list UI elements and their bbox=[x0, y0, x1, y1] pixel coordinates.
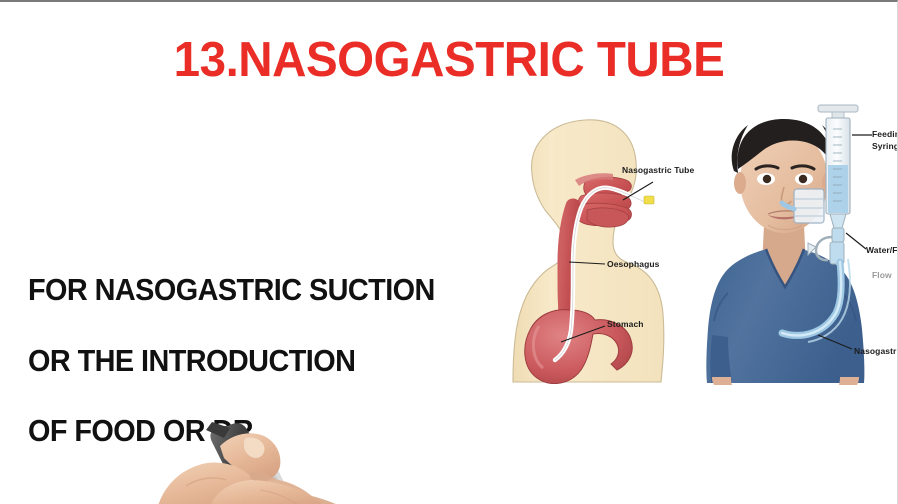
label-flow: Flow bbox=[872, 270, 892, 280]
label-water-food: Water/Food bbox=[866, 245, 898, 255]
anatomy-diagram: Nasogastric Tube Oesophagus Stomach bbox=[495, 114, 700, 384]
patient-photo-figure: Feeding Syringe Water/Food Flow Nasogast… bbox=[676, 97, 898, 387]
label-nasogastric-tube-photo: Nasogastric Tube bbox=[854, 346, 898, 356]
hand-shape bbox=[158, 433, 332, 504]
body-text-line-2: OR THE INTRODUCTION bbox=[28, 343, 355, 379]
drawing-hand bbox=[150, 420, 380, 504]
upper-airway bbox=[574, 173, 632, 227]
label-oesophagus: Oesophagus bbox=[607, 259, 659, 269]
tube-tip-connector bbox=[644, 196, 654, 204]
tape-patch bbox=[794, 189, 824, 223]
body-text-line-1: FOR NASOGASTRIC SUCTION bbox=[28, 272, 435, 308]
hand-marker-svg bbox=[150, 420, 380, 504]
label-stomach: Stomach bbox=[607, 319, 644, 329]
label-feeding-syringe-line2: Syringe bbox=[872, 141, 898, 151]
patient-photo-svg bbox=[676, 97, 898, 387]
label-feeding-syringe-line1: Feeding bbox=[872, 129, 898, 139]
whiteboard-slide: 13.NASOGASTRIC TUBE FOR NASOGASTRIC SUCT… bbox=[0, 0, 898, 504]
page-title: 13.NASOGASTRIC TUBE bbox=[13, 32, 884, 88]
anatomy-svg bbox=[495, 114, 700, 384]
